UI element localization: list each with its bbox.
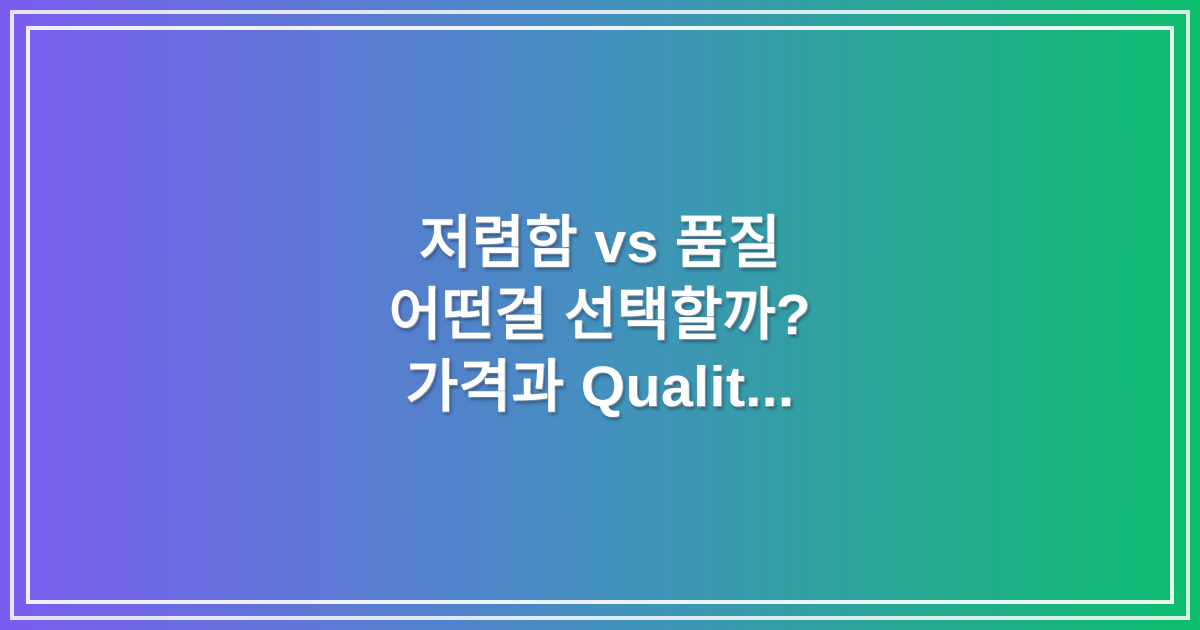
title-line-2: 어떤걸 선택할까? <box>60 279 1140 351</box>
og-preview-card: 저렴함 vs 품질 어떤걸 선택할까? 가격과 Qualit... <box>0 0 1200 630</box>
title-line-3: 가격과 Qualit... <box>60 351 1140 423</box>
title-line-1: 저렴함 vs 품질 <box>60 207 1140 279</box>
title-block: 저렴함 vs 품질 어떤걸 선택할까? 가격과 Qualit... <box>0 0 1200 630</box>
